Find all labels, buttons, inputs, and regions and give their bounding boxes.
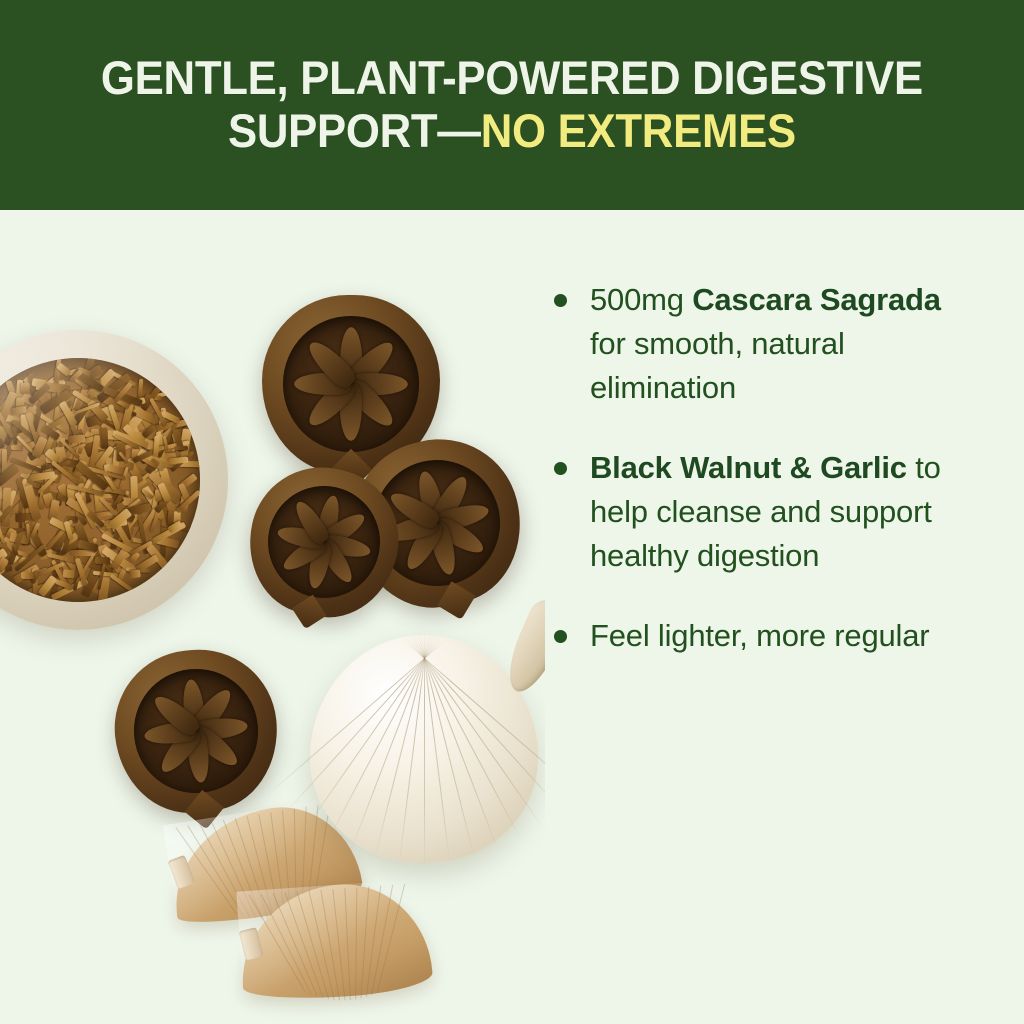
clove-root-end bbox=[168, 855, 196, 889]
garlic-vein bbox=[285, 637, 444, 814]
bark-chip bbox=[70, 550, 94, 556]
walnut-cavity bbox=[128, 663, 263, 798]
clove-striation bbox=[273, 893, 318, 996]
clove-root-end bbox=[239, 927, 264, 960]
walnut-tip bbox=[185, 790, 224, 829]
garlic-vein bbox=[424, 630, 425, 867]
benefit-text: Black Walnut & Garlic to help cleanse an… bbox=[590, 446, 948, 578]
benefit-item-cascara-sagrada: 500mg Cascara Sagrada for smooth, natura… bbox=[548, 278, 948, 410]
bark-chip bbox=[21, 572, 35, 579]
garlic-vein bbox=[267, 640, 447, 796]
benefit-copy: Feel lighter, more regular bbox=[590, 618, 929, 653]
bark-chip bbox=[128, 570, 140, 579]
benefit-copy: 500mg bbox=[590, 282, 692, 317]
garlic-vein bbox=[304, 635, 441, 830]
walnut-cavity bbox=[283, 316, 418, 451]
benefits-list: 500mg Cascara Sagrada for smooth, natura… bbox=[548, 278, 948, 658]
product-photo bbox=[0, 210, 545, 1024]
benefit-ingredient-name: Black Walnut & Garlic bbox=[590, 450, 907, 485]
headline-line-2: SUPPORT—NO EXTREMES bbox=[101, 105, 923, 158]
clove-striation bbox=[332, 889, 345, 1000]
garlic-stem bbox=[498, 595, 545, 699]
bullet-dot-icon bbox=[554, 462, 567, 475]
bark-chip bbox=[11, 445, 23, 450]
bullet-dot-icon bbox=[554, 294, 567, 307]
benefit-ingredient-name: Cascara Sagrada bbox=[692, 282, 941, 317]
benefit-item-black-walnut-garlic: Black Walnut & Garlic to help cleanse an… bbox=[548, 446, 948, 578]
clove-striation bbox=[355, 887, 357, 999]
benefit-text: Feel lighter, more regular bbox=[590, 614, 948, 658]
black-walnut-half-lower-left bbox=[107, 642, 285, 820]
benefit-item-feel-lighter: Feel lighter, more regular bbox=[548, 614, 948, 658]
headline-accent: NO EXTREMES bbox=[481, 104, 796, 157]
clove-striation bbox=[187, 825, 243, 916]
walnut-tip bbox=[437, 582, 476, 621]
bark-chip bbox=[138, 379, 144, 398]
bark-chip bbox=[21, 383, 30, 394]
header-banner: GENTLE, PLANT-POWERED DIGESTIVE SUPPORT—… bbox=[0, 0, 1024, 210]
bullet-dot-icon bbox=[554, 630, 567, 643]
infographic-canvas: GENTLE, PLANT-POWERED DIGESTIVE SUPPORT—… bbox=[0, 0, 1024, 1024]
garlic-bulb bbox=[310, 635, 538, 863]
benefit-text: 500mg Cascara Sagrada for smooth, natura… bbox=[590, 278, 948, 410]
garlic-vein bbox=[326, 634, 438, 844]
clove-striation bbox=[344, 888, 350, 1000]
benefit-copy: for smooth, natural elimination bbox=[590, 326, 845, 405]
headline-line-2-plain: SUPPORT— bbox=[228, 104, 481, 157]
headline: GENTLE, PLANT-POWERED DIGESTIVE SUPPORT—… bbox=[101, 52, 923, 157]
garlic-vein bbox=[349, 632, 435, 854]
walnut-tip bbox=[292, 595, 327, 630]
bark-chip bbox=[68, 434, 86, 444]
clove-striation bbox=[211, 822, 256, 919]
headline-line-1: GENTLE, PLANT-POWERED DIGESTIVE bbox=[101, 52, 923, 105]
walnut-cavity bbox=[257, 475, 390, 608]
